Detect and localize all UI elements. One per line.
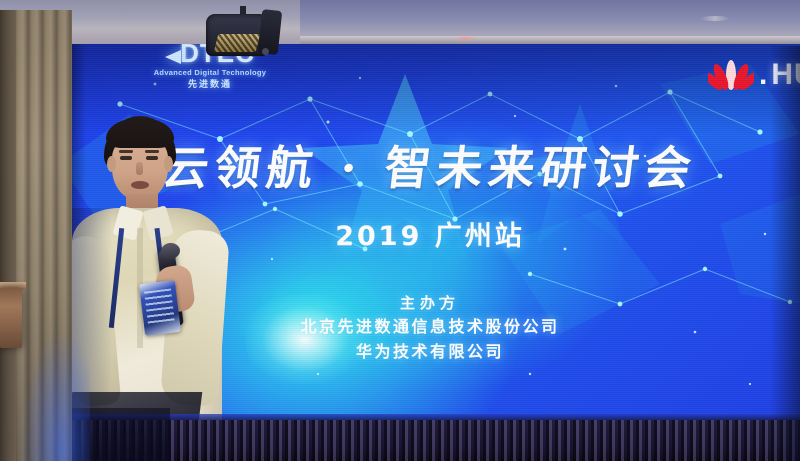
ceiling-vent-icon xyxy=(700,16,730,21)
speaker-nose xyxy=(136,162,143,175)
wall-sconce xyxy=(0,288,22,348)
dtec-chinese-name: 先进数通 xyxy=(130,78,290,90)
spotlight-knob xyxy=(262,48,269,55)
skirting-left-shadow xyxy=(60,408,170,461)
right-wall-shadow xyxy=(770,46,800,461)
event-subtitle-text: 2019 广州站 xyxy=(335,221,525,252)
stage-spotlight xyxy=(200,6,282,58)
speaker-eye-right xyxy=(146,156,158,160)
spotlight-grille xyxy=(214,34,260,52)
speaker-fringe xyxy=(106,118,174,148)
spotlight-yoke xyxy=(258,9,282,55)
conference-photo: DTEC Advanced Digital Technology 先进数通 . … xyxy=(0,0,800,461)
huawei-dot: . xyxy=(759,58,767,92)
speaker-ear-right xyxy=(164,156,173,172)
curtain-dark-fold xyxy=(0,10,16,461)
huawei-flower-icon xyxy=(708,58,754,92)
dtec-tagline: Advanced Digital Technology xyxy=(130,68,290,78)
badge-text-lines xyxy=(144,288,175,325)
speaker-eyebrow-right xyxy=(145,150,159,153)
wall-skirting xyxy=(60,420,800,461)
dtec-triangle-icon xyxy=(165,50,181,64)
speaker-ear-left xyxy=(107,156,116,172)
speaker-eye-left xyxy=(120,156,132,160)
speaker-eyebrow-left xyxy=(119,150,133,153)
ceiling-downlight-icon xyxy=(455,36,477,41)
speaker-mouth xyxy=(131,181,149,189)
